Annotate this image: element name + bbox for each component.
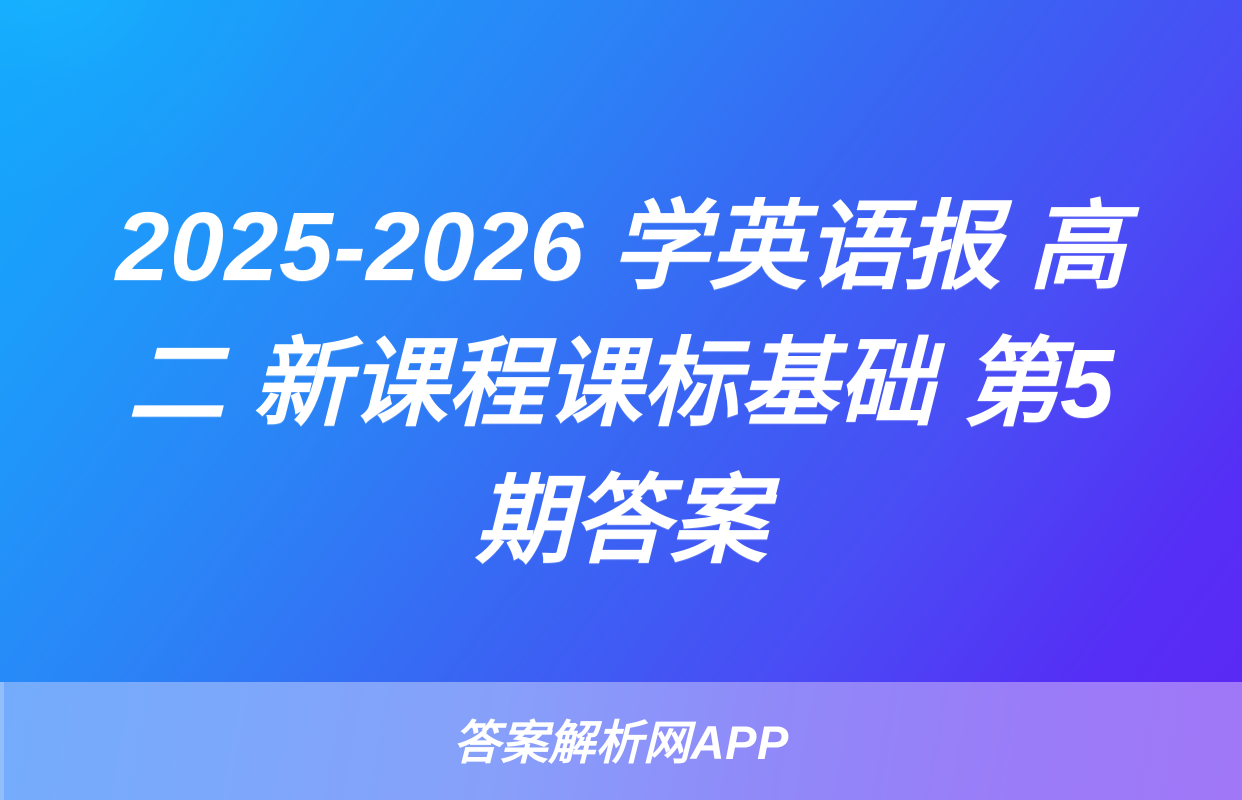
title-line-1: 2025-2026 学英语报 高 xyxy=(26,178,1216,315)
footer-brand-bar: 答案解析网APP xyxy=(0,682,1242,800)
app-brand-label: 答案解析网APP xyxy=(453,719,789,766)
page-title: 2025-2026 学英语报 高 二 新课程课标基础 第5 期答案 xyxy=(0,178,1242,589)
title-line-2: 二 新课程课标基础 第5 xyxy=(26,315,1216,452)
answer-poster: 2025-2026 学英语报 高 二 新课程课标基础 第5 期答案 答案解析网A… xyxy=(0,0,1242,800)
title-line-3: 期答案 xyxy=(26,452,1216,589)
